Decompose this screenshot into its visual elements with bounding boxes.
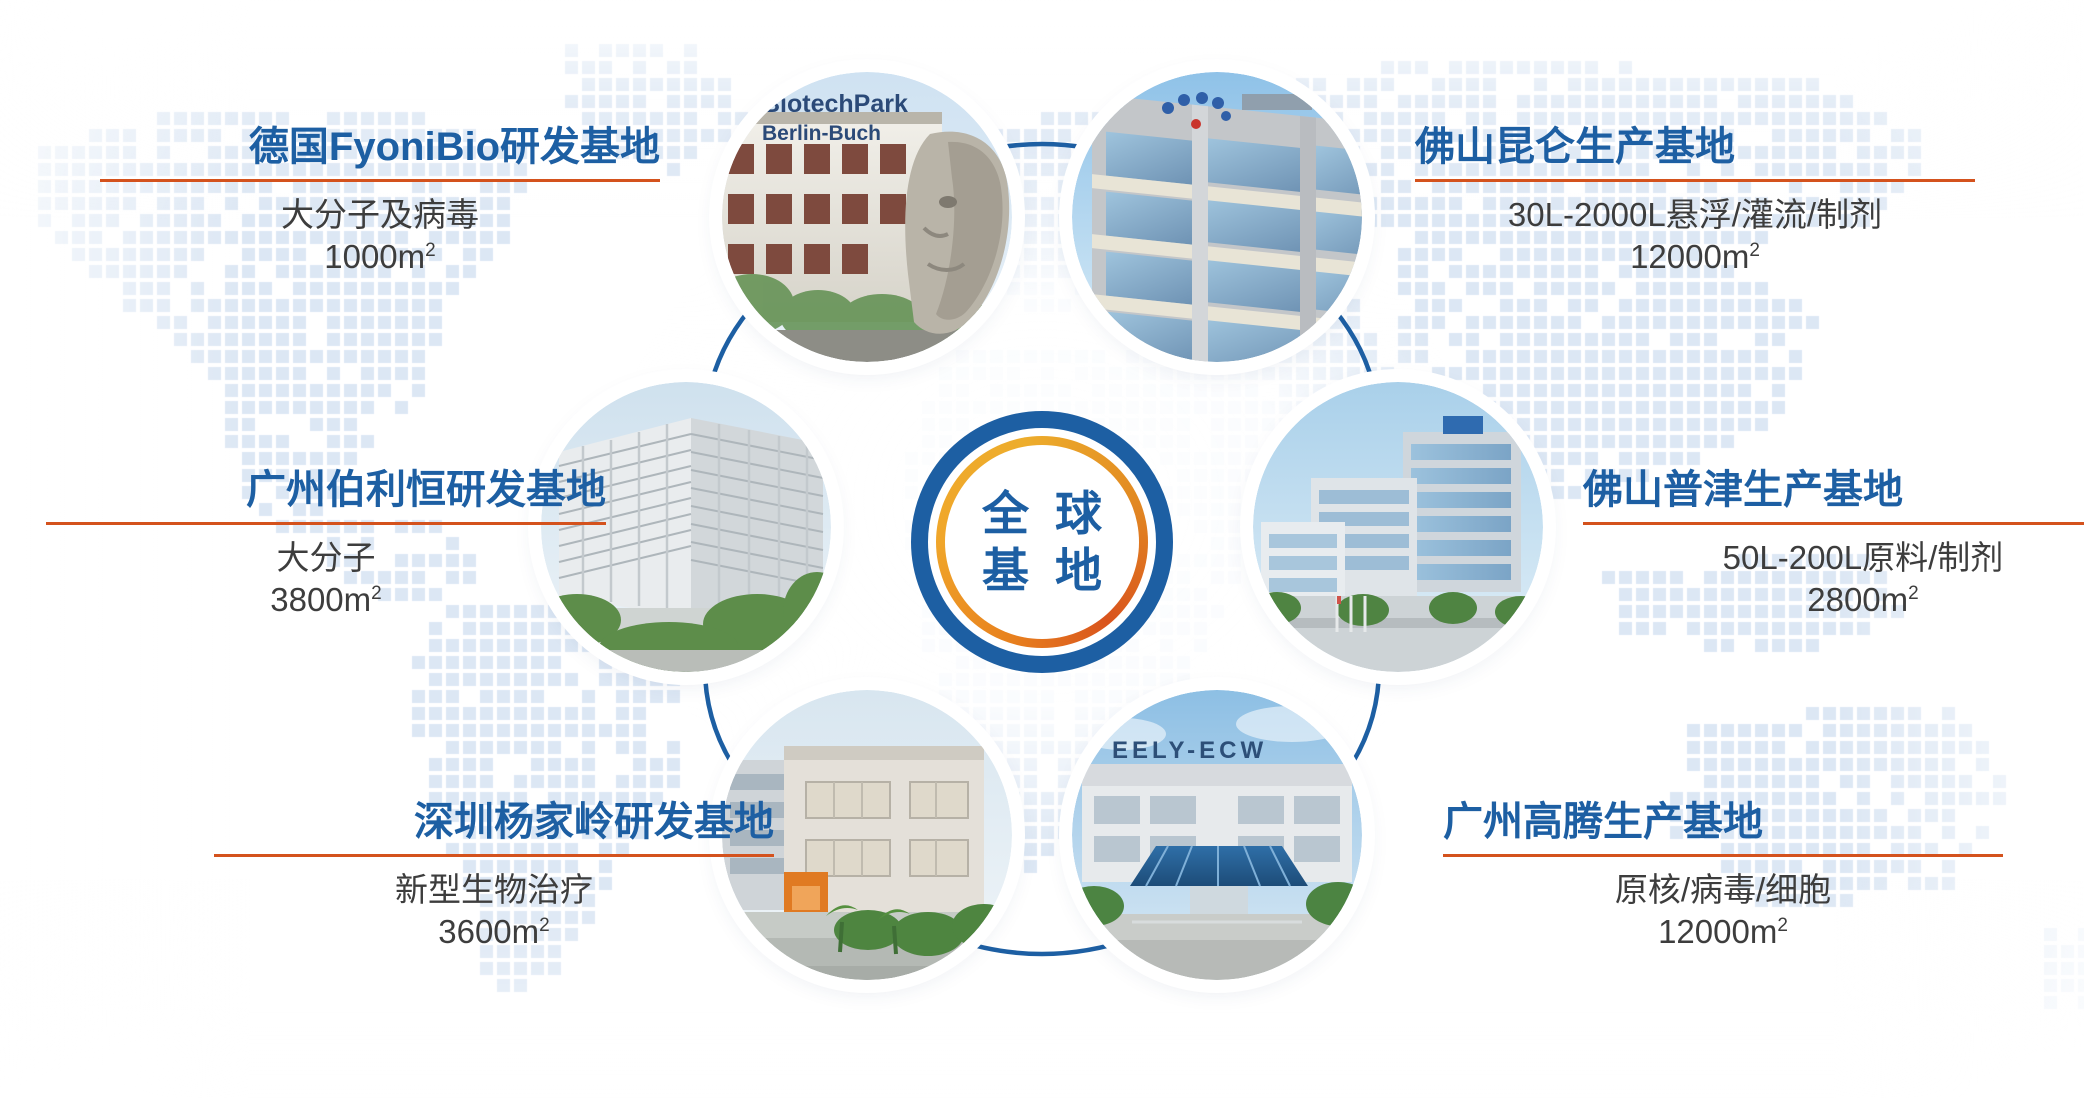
label-area-exponent: 2 — [371, 583, 382, 604]
center-text-line1: 全 球 — [982, 490, 1102, 537]
label-sub-line1: 30L-2000L悬浮/灌流/制剂 — [1415, 194, 1975, 236]
photo-foshan-kunlun — [1072, 72, 1362, 362]
label-title-foshan-kunlun: 佛山昆仑生产基地 — [1415, 125, 1975, 170]
label-sub-line1: 原核/病毒/细胞 — [1443, 869, 2003, 911]
label-area-exponent: 2 — [1749, 240, 1760, 261]
svg-text:EELY-ECW: EELY-ECW — [1112, 737, 1267, 764]
label-guangzhou-boliheng: 广州伯利恒研发基地 大分子 3800m2 — [46, 468, 606, 621]
label-area-exponent: 2 — [1908, 583, 1919, 604]
photo-foshan-pujin — [1253, 382, 1543, 672]
label-area-exponent: 2 — [425, 240, 436, 261]
center-text: 全 球 基 地 — [911, 411, 1173, 673]
label-title-germany-fyonibio: 德国FyoniBio研发基地 — [100, 125, 660, 170]
label-area-exponent: 2 — [1777, 915, 1788, 936]
label-rule — [1415, 179, 1975, 182]
label-area-value: 3600m — [438, 913, 539, 950]
label-area-value: 1000m — [324, 238, 425, 275]
svg-text:Berlin-Buch: Berlin-Buch — [762, 122, 881, 145]
label-sub-area: 3800m2 — [46, 579, 606, 621]
label-germany-fyonibio: 德国FyoniBio研发基地 大分子及病毒 1000m2 — [100, 125, 660, 278]
label-title-guangzhou-boliheng: 广州伯利恒研发基地 — [46, 468, 606, 513]
label-sub-foshan-kunlun: 30L-2000L悬浮/灌流/制剂 12000m2 — [1415, 194, 1975, 278]
label-sub-area: 3600m2 — [214, 911, 774, 953]
label-sub-area: 12000m2 — [1443, 911, 2003, 953]
label-rule — [1583, 522, 2084, 525]
label-sub-area: 1000m2 — [100, 236, 660, 278]
label-sub-area: 2800m2 — [1583, 579, 2084, 621]
label-rule — [100, 179, 660, 182]
label-sub-line1: 50L-200L原料/制剂 — [1583, 537, 2084, 579]
label-area-value: 12000m — [1658, 913, 1777, 950]
label-sub-shenzhen-yangjialing: 新型生物治疗 3600m2 — [214, 869, 774, 953]
label-area-exponent: 2 — [539, 915, 550, 936]
center-char-1: 全 — [982, 490, 1029, 537]
label-sub-line1: 大分子 — [46, 537, 606, 579]
center-char-3: 基 — [982, 547, 1029, 594]
label-sub-line1: 大分子及病毒 — [100, 194, 660, 236]
center-char-2: 球 — [1055, 490, 1102, 537]
label-title-shenzhen-yangjialing: 深圳杨家岭研发基地 — [214, 800, 774, 845]
photo-germany-fyonibio: BiotechPark Berlin-Buch — [722, 72, 1012, 362]
label-rule — [1443, 854, 2003, 857]
center-text-line2: 基 地 — [982, 547, 1102, 594]
label-sub-guangzhou-boliheng: 大分子 3800m2 — [46, 537, 606, 621]
label-sub-guangzhou-gaoteng: 原核/病毒/细胞 12000m2 — [1443, 869, 2003, 953]
label-title-guangzhou-gaoteng: 广州高腾生产基地 — [1443, 800, 2003, 845]
label-area-value: 2800m — [1807, 581, 1908, 618]
label-rule — [46, 522, 606, 525]
label-shenzhen-yangjialing: 深圳杨家岭研发基地 新型生物治疗 3600m2 — [214, 800, 774, 953]
label-guangzhou-gaoteng: 广州高腾生产基地 原核/病毒/细胞 12000m2 — [1443, 800, 2003, 953]
photo-guangzhou-gaoteng: EELY-ECW — [1072, 690, 1362, 980]
center-emblem: 全 球 基 地 — [911, 411, 1173, 673]
label-title-foshan-pujin: 佛山普津生产基地 — [1583, 468, 2084, 513]
label-area-value: 3800m — [270, 581, 371, 618]
label-sub-foshan-pujin: 50L-200L原料/制剂 2800m2 — [1583, 537, 2084, 621]
center-char-4: 地 — [1055, 547, 1102, 594]
label-sub-germany-fyonibio: 大分子及病毒 1000m2 — [100, 194, 660, 278]
label-foshan-pujin: 佛山普津生产基地 50L-200L原料/制剂 2800m2 — [1583, 468, 2084, 621]
label-area-value: 12000m — [1630, 238, 1749, 275]
label-sub-area: 12000m2 — [1415, 236, 1975, 278]
label-sub-line1: 新型生物治疗 — [214, 869, 774, 911]
label-rule — [214, 854, 774, 857]
label-foshan-kunlun: 佛山昆仑生产基地 30L-2000L悬浮/灌流/制剂 12000m2 — [1415, 125, 1975, 278]
global-bases-infographic: BiotechPark Berlin-Buch — [0, 0, 2084, 1098]
